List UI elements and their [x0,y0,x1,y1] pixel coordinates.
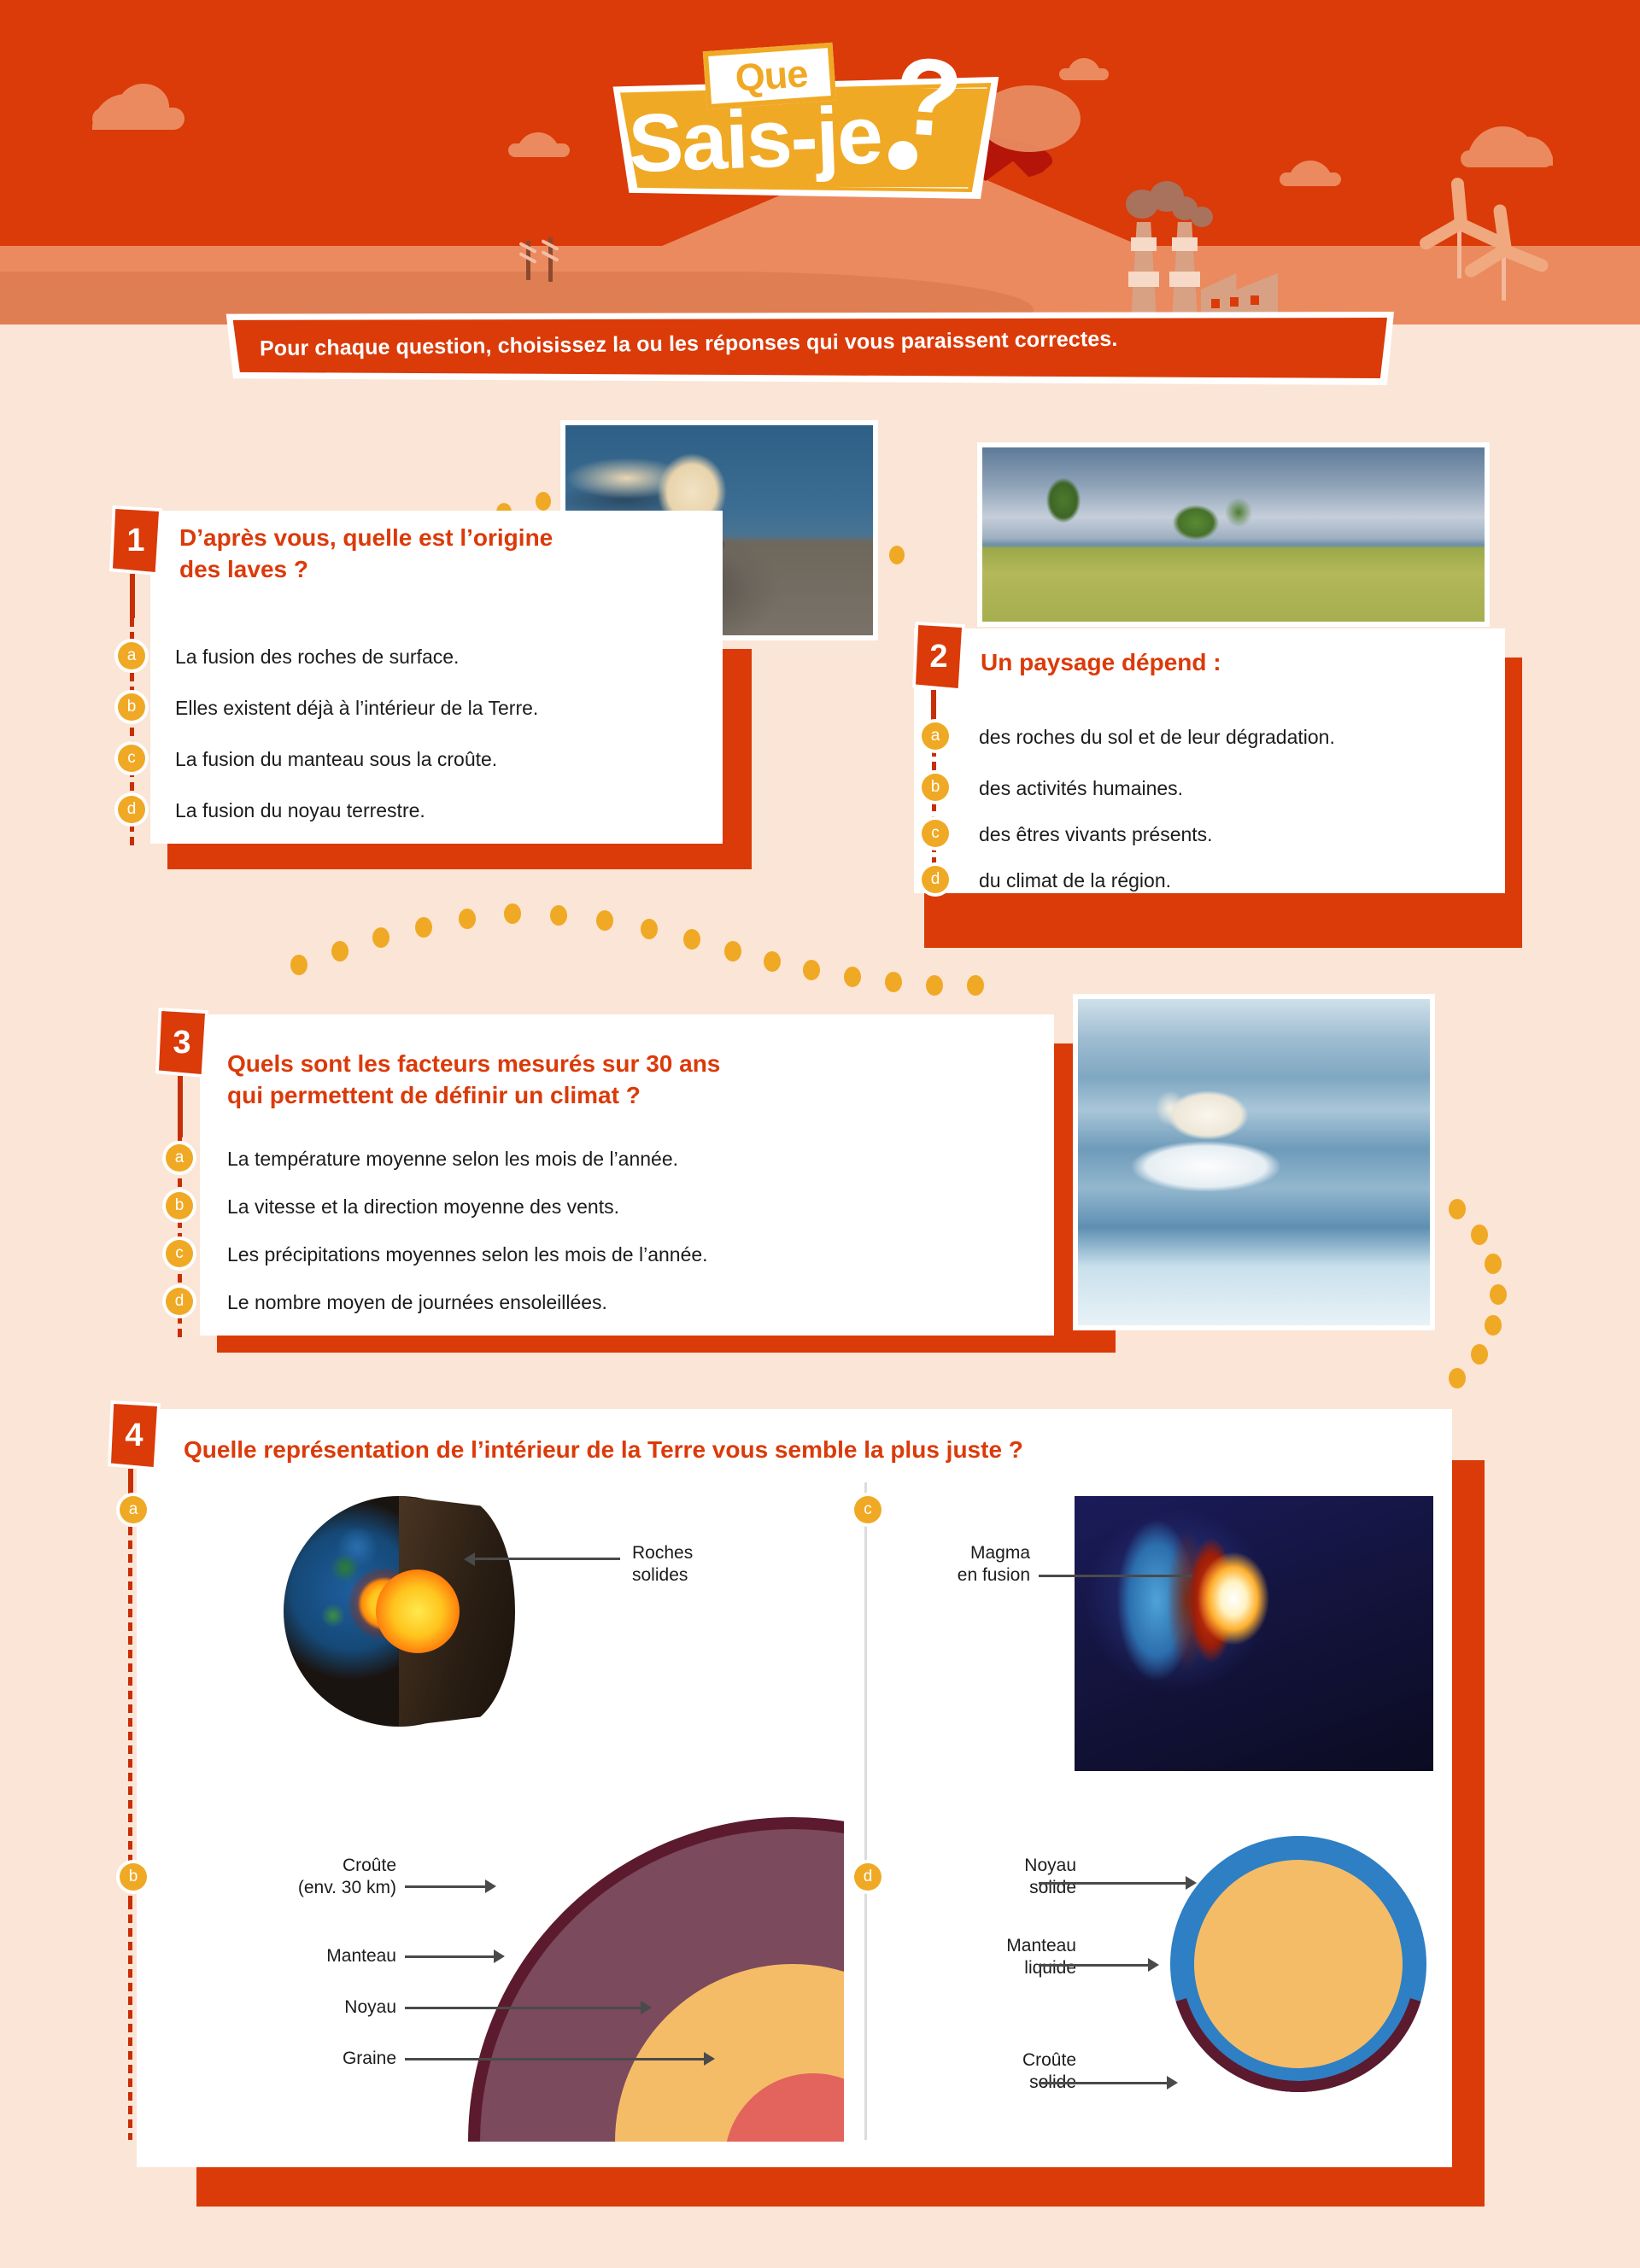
factory-chimney-band [1172,237,1198,251]
quiz-logo: Sais-je Que ? [589,47,1016,209]
q4-label-b4: Graine [229,2048,396,2070]
q4-spine [128,1499,132,1901]
q3-option-badge-c[interactable]: c [166,1240,193,1267]
q1-option-badge-a[interactable]: a [118,642,145,669]
q2-title: Un paysage dépend : [981,647,1459,679]
q2-option-badge-a[interactable]: a [922,722,949,750]
q4-arrow-head-d1 [1186,1876,1197,1890]
q2-option-badge-d[interactable]: d [922,866,949,893]
q2-option-text-d[interactable]: du climat de la région. [979,869,1171,893]
q4-diagram-b [468,1817,844,2142]
q4-arrow-line-d1 [1039,1882,1186,1885]
q1-number-badge: 1 [109,506,162,576]
q4-diagram-d [1170,1836,1426,2109]
factory-chimney-band [1131,237,1157,251]
q4-arrow-head-b4 [704,2052,715,2066]
q4-arrow-line-b1 [405,1885,485,1888]
q4-earth-core-glow [376,1569,460,1653]
logo-que: Que [706,44,837,108]
cloud-icon [1461,150,1553,167]
q1-title: D’après vous, quelle est l’origine des l… [179,523,692,586]
q4-arrow-line-c1 [1039,1575,1192,1577]
logo-question-mark: ? [892,41,966,155]
cloud-icon [1280,172,1341,186]
q4-option-badge-a[interactable]: a [120,1496,147,1523]
q4-label-d2: Manteau liquide [922,1935,1076,1979]
factory-chimney-band [1128,272,1159,287]
q4-number: 4 [111,1404,157,1467]
q4-label-b1: Croûte (env. 30 km) [212,1855,396,1898]
q2-number: 2 [916,625,962,688]
q3-option-text-b[interactable]: La vitesse et la direction moyenne des v… [227,1195,619,1219]
q4-earth-cg-photo-c [1075,1496,1433,1771]
q4-label-c1: Magma en fusion [893,1542,1030,1586]
q3-spine-solid [178,1076,183,1137]
q4-arrow-head-d2 [1148,1958,1159,1972]
q4-label-a1: Roches solides [632,1542,786,1586]
q2-savanna-photo [982,447,1485,622]
q4-option-badge-b[interactable]: b [120,1863,147,1891]
cloud-icon [508,143,570,157]
q4-arrow-line-b4 [405,2058,704,2060]
cloud-icon [92,108,184,130]
dot-connector-path-3 [1426,1195,1597,1409]
cloud-icon [1059,68,1109,80]
q4-option-badge-d[interactable]: d [854,1863,881,1891]
q4-arrow-line-d3 [1039,2082,1167,2084]
factory-window [1250,295,1259,305]
factory-chimney-band [1169,272,1200,287]
q4-arrow-line-b2 [405,1955,494,1958]
q4-spine-lower [128,1901,132,2140]
q4-arrow-head-b2 [494,1949,505,1963]
q4-arrow-head-d3 [1167,2076,1178,2090]
q4-label-d3: Croûte solide [922,2049,1076,2093]
factory-smoke-icon [1191,207,1213,227]
q1-option-text-b[interactable]: Elles existent déjà à l’intérieur de la … [175,697,538,721]
q2-option-badge-c[interactable]: c [922,820,949,847]
q4-spine-solid [128,1469,133,1499]
factory-window [1211,299,1220,308]
q3-option-text-d[interactable]: Le nombre moyen de journées ensoleillées… [227,1291,607,1315]
factory-window [1230,297,1239,307]
q1-spine-solid [130,574,135,618]
q4-label-b3: Noyau [229,1996,396,2019]
quiz-page: Sais-je Que ? Pour chaque question, choi… [0,0,1640,2268]
q4-arrow-head-a1 [464,1552,475,1566]
instruction-banner: Pour chaque question, choisissez la ou l… [224,312,1394,385]
q1-option-badge-c[interactable]: c [118,745,145,772]
q2-option-text-a[interactable]: des roches du sol et de leur dégradation… [979,726,1335,750]
q4-column-divider [864,1482,867,2140]
q3-option-badge-b[interactable]: b [166,1192,193,1219]
q2-number-badge: 2 [912,622,965,692]
q4-label-b2: Manteau [229,1945,396,1967]
q1-option-text-d[interactable]: La fusion du noyau terrestre. [175,799,425,823]
q2-option-badge-b[interactable]: b [922,774,949,801]
q1-option-text-a[interactable]: La fusion des roches de surface. [175,646,459,669]
q4-arrow-line-d2 [1039,1964,1148,1967]
q3-option-badge-a[interactable]: a [166,1144,193,1172]
q1-option-badge-d[interactable]: d [118,796,145,823]
q4-option-badge-c[interactable]: c [854,1496,881,1523]
q4-title: Quelle représentation de l’intérieur de … [184,1435,1345,1466]
q4-arrow-line-a1 [475,1558,620,1560]
q2-option-text-c[interactable]: des êtres vivants présents. [979,823,1213,847]
q4-number-badge: 4 [108,1400,161,1470]
q3-number: 3 [159,1011,205,1074]
q2-option-text-b[interactable]: des activités humaines. [979,777,1183,801]
q4-arrow-head-b3 [641,2001,652,2014]
q3-polar-bear-photo [1078,999,1430,1325]
q3-title: Quels sont les facteurs mesurés sur 30 a… [227,1049,911,1112]
q4-arrow-line-b3 [405,2007,641,2009]
q1-number: 1 [113,509,159,572]
q1-option-text-c[interactable]: La fusion du manteau sous la croûte. [175,748,497,772]
q3-option-text-a[interactable]: La température moyenne selon les mois de… [227,1148,678,1172]
q3-option-badge-d[interactable]: d [166,1288,193,1315]
header-illustration: Sais-je Que ? [0,0,1640,359]
q1-option-badge-b[interactable]: b [118,693,145,721]
q3-number-badge: 3 [155,1008,208,1078]
q4-label-d1: Noyau solide [922,1855,1076,1898]
q3-option-text-c[interactable]: Les précipitations moyennes selon les mo… [227,1243,708,1267]
q4-arrow-head-b1 [485,1879,496,1893]
